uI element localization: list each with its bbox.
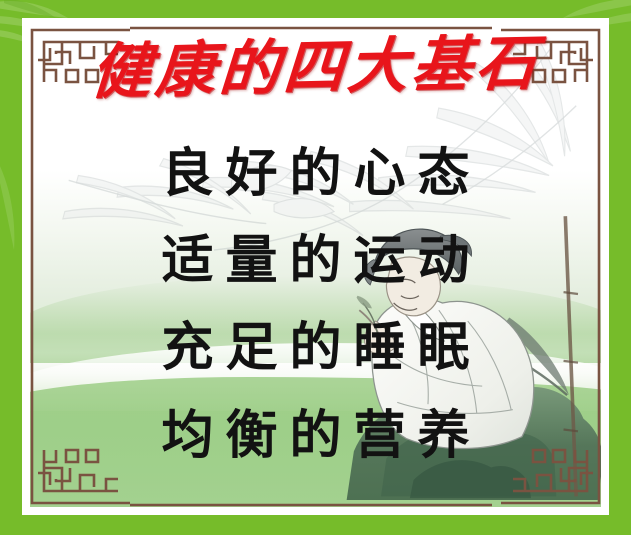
mist-wash <box>30 343 601 410</box>
bamboo-leaves-watermark <box>59 36 601 277</box>
artwork-panel <box>30 26 601 507</box>
green-wash-lower <box>30 377 601 507</box>
ink-painting-sage-figure <box>304 209 601 507</box>
green-wash-upper <box>30 276 601 363</box>
health-poster: 健康的四大基石 良好的心态 适量的运动 充足的睡眠 均衡的营养 <box>0 0 631 535</box>
